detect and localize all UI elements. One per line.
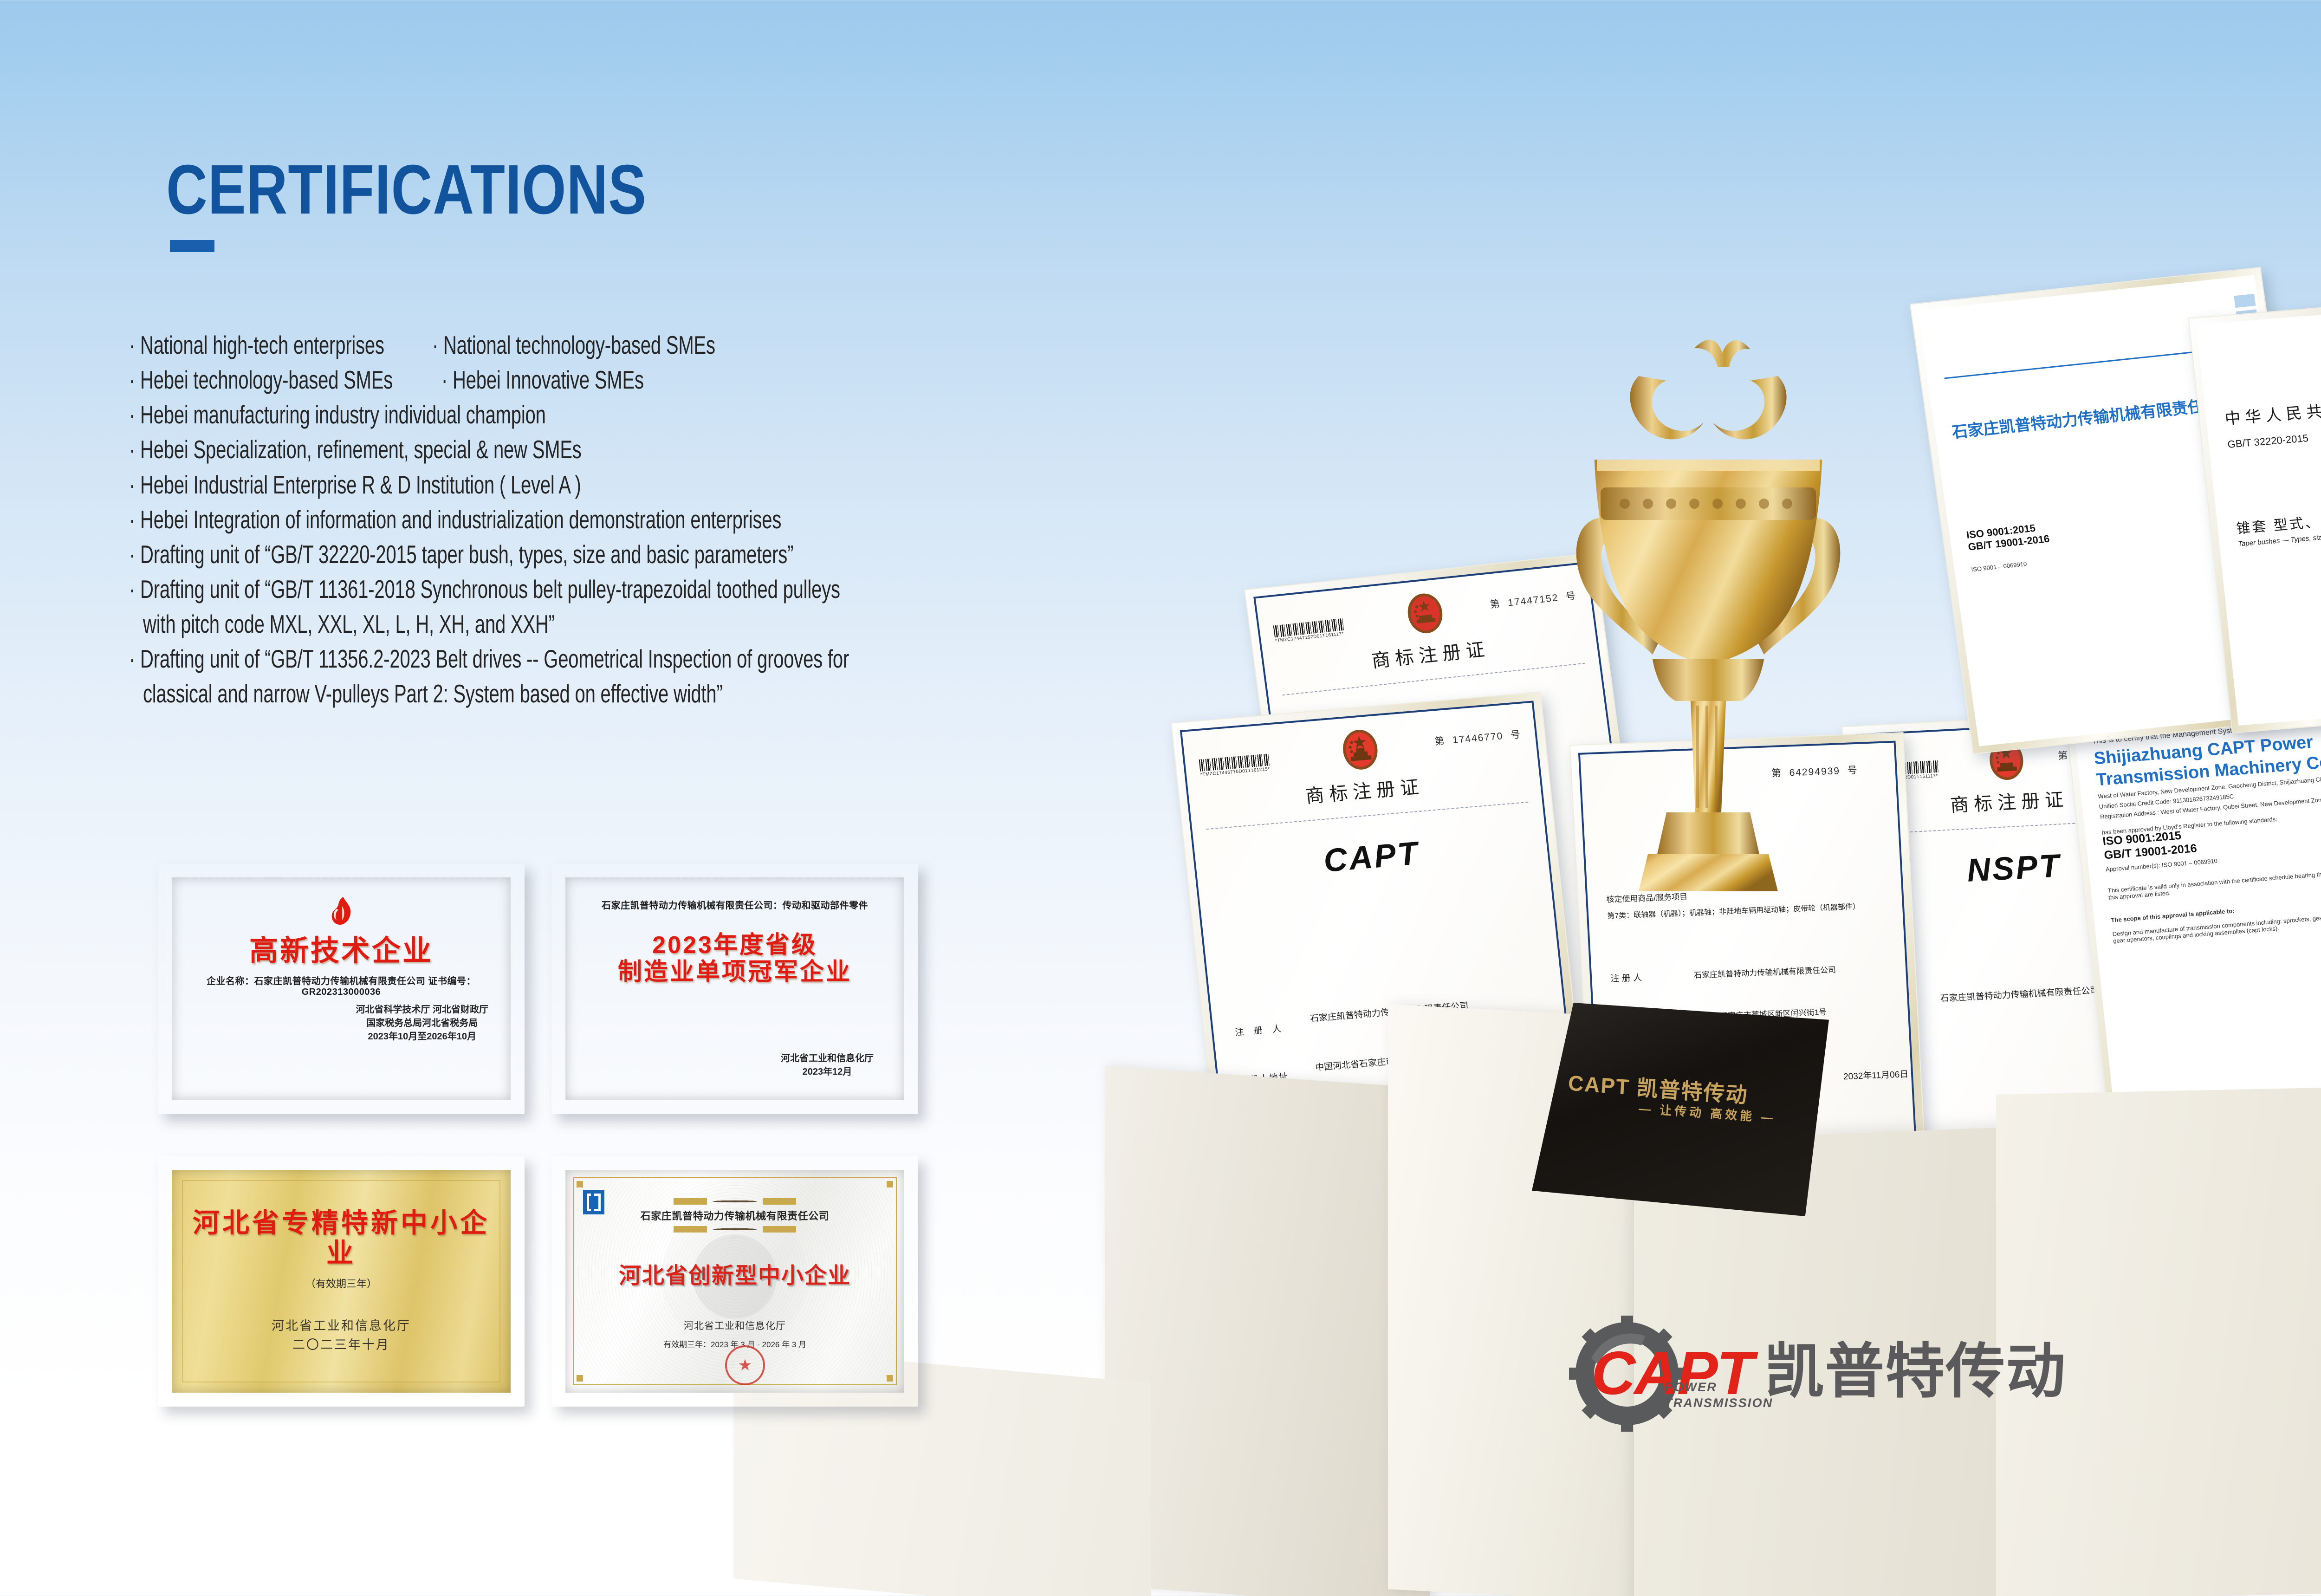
plaque-company-line: 企业名称：石家庄凯普特动力传输机械有限责任公司 证书编号：GR202313000…	[184, 973, 499, 998]
gb-line-1: 中华人民共和国国家标准	[2224, 389, 2321, 429]
capt-brand-logo: CAPT 凯普特传动 POWER TRANSMISSION	[1569, 1309, 2107, 1434]
certificate-title-cn: 商标注册证	[1949, 784, 2069, 817]
issuer-line-1: 河北省工业和信息化厅	[272, 1317, 411, 1336]
list-item-continuation: classical and narrow V-pulleys Part 2: S…	[129, 684, 1150, 705]
capt-chinese: 凯普特传动	[1764, 1345, 2066, 1398]
bullet-text: · Hebei manufacturing industry individua…	[129, 402, 546, 429]
trademark-mark: NSPT	[1966, 847, 2062, 889]
issuer-line-1: 河北省工业和信息化厅	[781, 1052, 874, 1065]
trophy-base: CAPT 凯普特传动 — 让传动 高效能 —	[1532, 1003, 1829, 1216]
issuer-line-3: 2023年10月至2026年10月	[356, 1030, 488, 1044]
issuer-line-2: 二〇二三年十月	[272, 1336, 411, 1355]
standards-list: ISO 9001:2015 GB/T 19001-2016	[1965, 521, 2050, 554]
plaque-issuers: 河北省科学技术厅 河北省财政厅 国家税务总局河北省税务局 2023年10月至20…	[356, 1003, 488, 1044]
flourish-ornament-bottom	[665, 1226, 804, 1233]
plaque-content: 河北省专精特新中小企业 （有效期三年） 河北省工业和信息化厅 二〇二三年十月	[172, 1170, 511, 1393]
tagline-line-1: POWER	[1665, 1380, 1773, 1395]
bullet-text: · Hebei Industrial Enterprise R & D Inst…	[129, 472, 581, 499]
bullet-text: · Hebei Specialization, refinement, spec…	[129, 437, 582, 464]
plaque-wood-frame: 石家庄凯普特动力传输机械有限责任公司：传动和驱动部件零件 2023年度省级 制造…	[551, 863, 918, 1114]
plaque-issuers: 河北省工业和信息化厅 2023年12月	[781, 1052, 874, 1079]
capt-tagline: POWER TRANSMISSION	[1665, 1380, 1773, 1411]
field-value-valid-until: 2032年11月06日	[1843, 1067, 1908, 1082]
field-label-registrant: 注 册 人	[1234, 1022, 1285, 1038]
plaque-high-tech-enterprise[interactable]: 高新技术企业 企业名称：石家庄凯普特动力传输机械有限责任公司 证书编号：GR20…	[158, 863, 525, 1114]
list-item: · Hebei Industrial Enterprise R & D Inst…	[129, 475, 1150, 496]
capt-wordmark: CAPT 凯普特传动	[1591, 1345, 2066, 1398]
certification-list: · National high-tech enterprises · Natio…	[129, 335, 1150, 719]
plaque-face: 石家庄凯普特动力传输机械有限责任公司 河北省创新型中小企业 河北省工业和信息化厅…	[565, 1170, 904, 1393]
certificate-title-cn: 商标注册证	[1304, 772, 1425, 808]
page-title: CERTIFICATIONS	[166, 149, 647, 230]
plaque-wood-frame: 石家庄凯普特动力传输机械有限责任公司 河北省创新型中小企业 河北省工业和信息化厅…	[551, 1156, 918, 1407]
plaque-header: 石家庄凯普特动力传输机械有限责任公司：传动和驱动部件零件	[602, 898, 868, 911]
list-item: · Drafting unit of “GB/T 32220-2015 tape…	[129, 545, 1150, 565]
bullet-text-continued: classical and narrow V-pulleys Part 2: S…	[143, 681, 723, 708]
pedestal-back	[1105, 1066, 1430, 1596]
flame-torch-icon	[326, 896, 356, 932]
company-name-cn: 石家庄凯普特动力传输机械有限责任公司	[1951, 394, 2236, 442]
trademark-mark: CAPT	[1322, 834, 1421, 879]
plaque-face: 石家庄凯普特动力传输机械有限责任公司：传动和驱动部件零件 2023年度省级 制造…	[565, 877, 904, 1100]
issuer-line-2: 国家税务总局河北省税务局	[356, 1017, 488, 1030]
gold-trophy	[1499, 320, 1917, 1063]
tagline-line-2: TRANSMISSION	[1665, 1395, 1773, 1411]
gb-line-2: GB/T 32220-2015	[2227, 432, 2309, 451]
plaque-title: 河北省创新型中小企业	[619, 1257, 851, 1290]
official-red-stamp: ★	[725, 1345, 765, 1385]
list-item: · Hebei Specialization, refinement, spec…	[129, 440, 1150, 461]
plaque-manufacturing-champion[interactable]: 石家庄凯普特动力传输机械有限责任公司：传动和驱动部件零件 2023年度省级 制造…	[551, 863, 918, 1114]
plaque-company: 石家庄凯普特动力传输机械有限责任公司	[641, 1208, 830, 1223]
bullet-text: · Hebei technology-based SMEs	[129, 367, 393, 394]
plaque-title-line-1: 2023年度省级	[652, 932, 817, 959]
approval-number: ISO 9001 – 0069910	[1971, 560, 2028, 573]
bullet-text: · Drafting unit of “GB/T 32220-2015 tape…	[129, 542, 793, 569]
list-item: · Hebei technology-based SMEs · Hebei In…	[129, 370, 1150, 391]
plaque-wood-frame: 高新技术企业 企业名称：石家庄凯普特动力传输机械有限责任公司 证书编号：GR20…	[158, 863, 525, 1114]
plaque-face: 河北省专精特新中小企业 （有效期三年） 河北省工业和信息化厅 二〇二三年十月	[172, 1170, 511, 1393]
bullet-text: · Drafting unit of “GB/T 11356.2-2023 Be…	[129, 646, 849, 673]
flourish-ornament-top	[665, 1198, 804, 1205]
plaque-title-line-2: 制造业单项冠军企业	[618, 959, 852, 986]
list-item: · Hebei Integration of information and i…	[129, 510, 1150, 531]
plaque-issuers: 河北省工业和信息化厅 二〇二三年十月	[272, 1317, 411, 1354]
divider	[1206, 802, 1528, 830]
star-icon: ★	[738, 1357, 752, 1373]
national-emblem-icon	[1339, 727, 1382, 773]
plaque-issuer: 河北省工业和信息化厅	[684, 1318, 786, 1332]
list-item: · National high-tech enterprises · Natio…	[129, 335, 1150, 356]
bullet-text: · Drafting unit of “GB/T 11361-2018 Sync…	[129, 577, 840, 603]
national-emblem-icon	[1403, 590, 1447, 636]
plaque-innovative-sme[interactable]: 石家庄凯普特动力传输机械有限责任公司 河北省创新型中小企业 河北省工业和信息化厅…	[551, 1156, 918, 1407]
issuer-line-2: 2023年12月	[781, 1065, 874, 1079]
title-accent-bar	[170, 240, 214, 252]
plaque-face: 高新技术企业 企业名称：石家庄凯普特动力传输机械有限责任公司 证书编号：GR20…	[172, 877, 511, 1100]
list-item: · Drafting unit of “GB/T 11356.2-2023 Be…	[129, 649, 1150, 670]
plaque-wood-frame: 河北省专精特新中小企业 （有效期三年） 河北省工业和信息化厅 二〇二三年十月	[158, 1156, 525, 1407]
plaque-subtitle: （有效期三年）	[305, 1276, 377, 1291]
number-label: 第	[2057, 750, 2069, 761]
certificate-title-cn: 商标注册证	[1370, 634, 1491, 673]
number-value: 17446770	[1452, 731, 1504, 746]
plaque-title: 高新技术企业	[249, 935, 433, 967]
bullet-text: · Hebei Integration of information and i…	[129, 506, 781, 533]
gb-line-3: 锥套 型式、尺寸和基本参数	[2235, 501, 2321, 537]
bullet-text: · National technology-based SMEs	[432, 332, 715, 359]
number-label: 第	[1434, 736, 1446, 747]
list-item-continuation: with pitch code MXL, XXL, XL, L, H, XH, …	[129, 614, 1150, 635]
plaque-content: 高新技术企业 企业名称：石家庄凯普特动力传输机械有限责任公司 证书编号：GR20…	[172, 877, 511, 1100]
plaque-content: 石家庄凯普特动力传输机械有限责任公司：传动和驱动部件零件 2023年度省级 制造…	[565, 877, 904, 1100]
scope-title: The scope of this approval is applicable…	[2111, 907, 2235, 923]
bullet-text: · Hebei Innovative SMEs	[441, 367, 644, 394]
bullet-text: · National high-tech enterprises	[129, 332, 384, 359]
list-item: · Drafting unit of “GB/T 11361-2018 Sync…	[129, 579, 1150, 600]
plaque-specialized-new-sme[interactable]: 河北省专精特新中小企业 （有效期三年） 河北省工业和信息化厅 二〇二三年十月	[158, 1156, 525, 1407]
list-item: · Hebei manufacturing industry individua…	[129, 405, 1150, 426]
issuer-line-1: 河北省科学技术厅 河北省财政厅	[356, 1003, 488, 1017]
field-value-registrant: 石家庄凯普特动力传输机械有限责任公司	[1940, 983, 2099, 1004]
plaque-title: 河北省专精特新中小企业	[184, 1208, 499, 1269]
bullet-text-continued: with pitch code MXL, XXL, XL, L, H, XH, …	[143, 611, 555, 638]
